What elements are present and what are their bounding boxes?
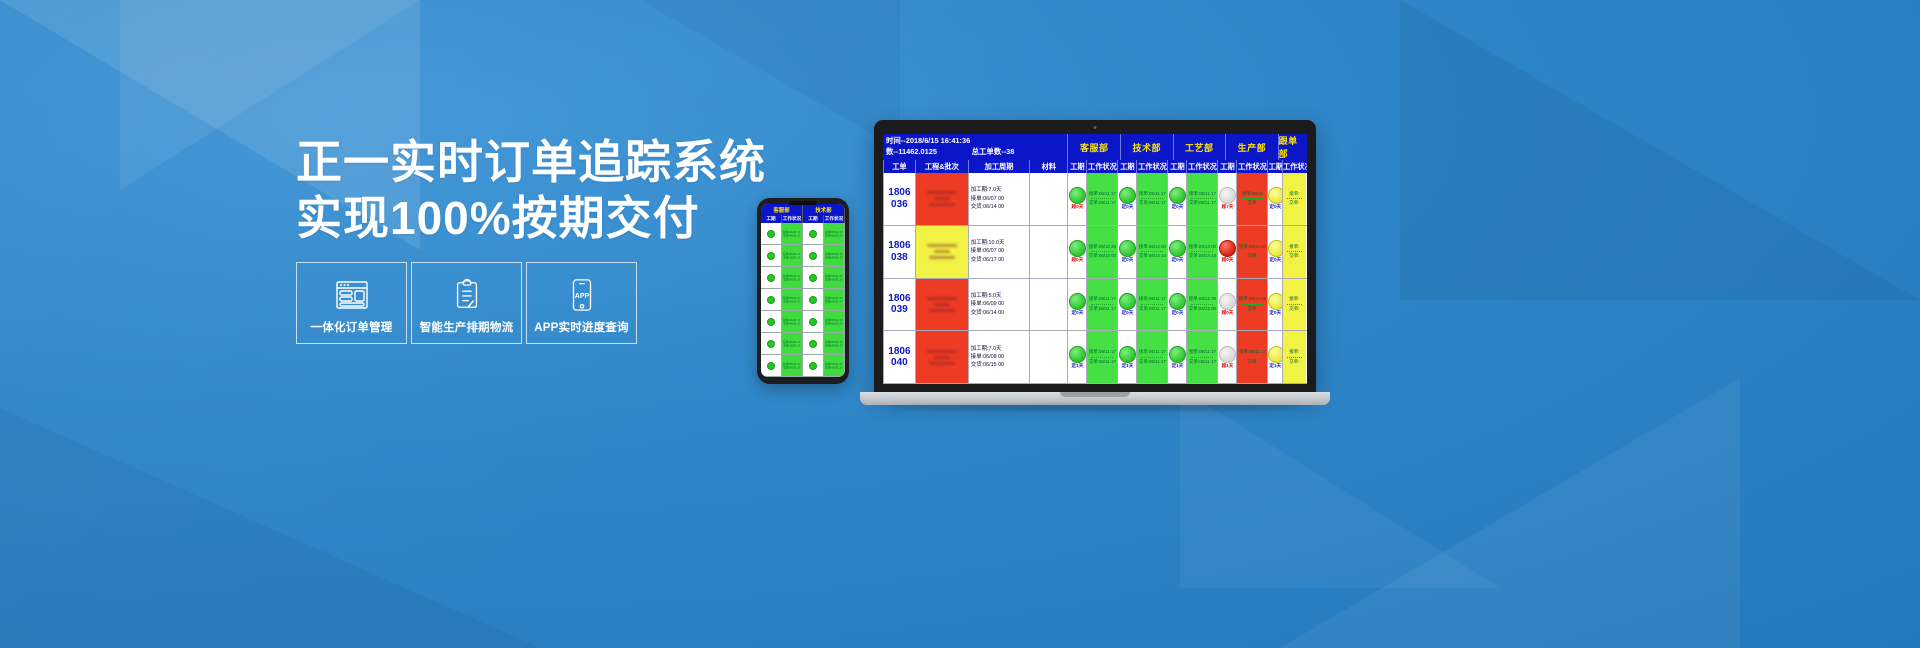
phone-status-text-cell[interactable]: 接单:06/11 17交单:06/11 17 bbox=[824, 333, 844, 355]
status-badge: 定0天 bbox=[1068, 310, 1086, 316]
duration-status-cell[interactable]: 超0天 bbox=[1217, 226, 1236, 278]
phone-status-text-cell[interactable]: 接单:06/11 17交单:06/11 17 bbox=[824, 267, 844, 289]
order-number-cell[interactable]: 1806040 bbox=[883, 331, 915, 383]
status-indicator-icon bbox=[1069, 293, 1086, 310]
work-status-text: 接单:06/12 09交单: bbox=[1237, 296, 1267, 312]
work-status-cell[interactable]: 接单:06/11 17交单:06/11 17 bbox=[1136, 331, 1167, 383]
material-cell[interactable] bbox=[1029, 331, 1067, 383]
status-dot-icon bbox=[767, 318, 775, 326]
column-header[interactable]: 加工周期 bbox=[968, 160, 1029, 173]
department-header[interactable]: 生产部 bbox=[1225, 134, 1278, 160]
status-badge: 定1天 bbox=[1118, 363, 1136, 369]
column-header[interactable]: 工作状况 bbox=[1236, 160, 1267, 173]
project-batch-cell[interactable] bbox=[915, 279, 968, 331]
status-total: 总工单数--38 bbox=[972, 147, 1015, 158]
work-status-cell[interactable]: 接单:06/11 17交单:06/11 17 bbox=[1136, 279, 1167, 331]
column-header[interactable]: 工单 bbox=[883, 160, 915, 173]
dashboard-table-body: 1806036加工期:7.0天接单:06/07 00交货:06/14 00超0天… bbox=[883, 173, 1307, 384]
phone-status-text-cell[interactable]: 接单:06/11 17交单:06/11 17 bbox=[824, 355, 844, 377]
phone-status-dot-cell[interactable] bbox=[761, 355, 781, 377]
phone-cell-text: 接单:06/11 17交单:06/11 17 bbox=[825, 362, 842, 369]
department-header[interactable]: 工艺部 bbox=[1173, 134, 1226, 160]
status-badge: 超7天 bbox=[1218, 204, 1236, 210]
redacted-content bbox=[916, 279, 968, 331]
duration-status-cell[interactable]: 定0天 bbox=[1267, 279, 1282, 331]
cycle-line: 加工期:7.0天 bbox=[969, 345, 1029, 353]
duration-status-cell[interactable]: 定0天 bbox=[1117, 226, 1136, 278]
dashboard-status-bar: 时间--2018/6/15 16:41:36 数--11462.0125 总工单… bbox=[883, 134, 1307, 160]
laptop-shadow bbox=[890, 405, 1300, 410]
order-number-cell[interactable]: 1806039 bbox=[883, 279, 915, 331]
phone-column bbox=[761, 223, 782, 377]
phone-status-text-cell[interactable]: 接单:06/11 17交单:06/11 17 bbox=[782, 311, 802, 333]
status-dot-icon bbox=[767, 274, 775, 282]
work-status-text: 接单:06/14 00交单: bbox=[1237, 244, 1267, 260]
work-status-text: 接单:06/13交单: bbox=[1237, 191, 1267, 207]
status-time: 时间--2018/6/15 16:41:36 bbox=[886, 136, 1064, 147]
cycle-line: 交货:06/14 00 bbox=[969, 309, 1029, 317]
cycle-line: 交货:06/15 00 bbox=[969, 361, 1029, 369]
feature-list: 一体化订单管理 智能生产排期物流 bbox=[296, 262, 637, 344]
status-badge: 定0天 bbox=[1118, 257, 1136, 263]
phone-mockup: 客服部 技术部 工期 工作状况 工期 工作状况 接单:06/11 17交单:06… bbox=[757, 198, 849, 384]
phone-cell-text: 接单:06/11 17交单:06/11 17 bbox=[783, 252, 800, 259]
status-badge: 定1天 bbox=[1168, 363, 1186, 369]
duration-status-cell[interactable]: 定0天 bbox=[1117, 279, 1136, 331]
processing-cycle-cell[interactable]: 加工期:10.0天接单:06/07 00交货:06/17 00 bbox=[968, 226, 1029, 278]
phone-status-dot-cell[interactable] bbox=[761, 223, 781, 245]
column-header[interactable]: 工期 bbox=[1267, 160, 1282, 173]
feature-item-production-schedule[interactable]: 智能生产排期物流 bbox=[411, 262, 522, 344]
cycle-line: 加工期:5.0天 bbox=[969, 292, 1029, 300]
phone-cell-text: 接单:06/11 17交单:06/11 17 bbox=[825, 318, 842, 325]
table-row[interactable]: 1806036加工期:7.0天接单:06/07 00交货:06/14 00超0天… bbox=[883, 173, 1307, 226]
duration-status-cell[interactable]: 超7天 bbox=[1217, 173, 1236, 225]
phone-status-text-cell[interactable]: 接单:06/11 17交单:06/11 17 bbox=[824, 311, 844, 333]
status-indicator-icon bbox=[1268, 293, 1282, 310]
phone-dept-header: 客服部 bbox=[761, 204, 803, 215]
work-status-text: 接单:06/11 17交单:06/11 17 bbox=[1087, 191, 1117, 207]
status-dot-icon bbox=[767, 340, 775, 348]
feature-label: APP实时进度查询 bbox=[534, 319, 628, 335]
duration-status-cell[interactable]: 定0天 bbox=[1167, 279, 1186, 331]
status-indicator-icon bbox=[1069, 240, 1086, 257]
phone-status-dot-cell[interactable] bbox=[803, 267, 823, 289]
column-header[interactable]: 工作状况 bbox=[1136, 160, 1167, 173]
duration-status-cell[interactable]: 定0天 bbox=[1267, 173, 1282, 225]
phone-status-text-cell[interactable]: 接单:06/11 17交单:06/11 17 bbox=[824, 223, 844, 245]
table-row[interactable]: 1806040加工期:7.0天接单:06/08 00交货:06/15 00定1天… bbox=[883, 331, 1307, 384]
status-badge: 定0天 bbox=[1268, 310, 1282, 316]
column-header[interactable]: 工作状况 bbox=[1086, 160, 1117, 173]
processing-cycle-cell[interactable]: 加工期:5.0天接单:06/09 00交货:06/14 00 bbox=[968, 279, 1029, 331]
phone-status-dot-cell[interactable] bbox=[803, 333, 823, 355]
material-cell[interactable] bbox=[1029, 226, 1067, 278]
phone-status-text-cell[interactable]: 接单:06/11 17交单:06/11 17 bbox=[782, 267, 802, 289]
project-batch-cell[interactable] bbox=[915, 173, 968, 225]
processing-cycle-cell[interactable]: 加工期:7.0天接单:06/08 00交货:06/15 00 bbox=[968, 331, 1029, 383]
duration-status-cell[interactable]: 定0天 bbox=[1067, 279, 1086, 331]
status-dot-icon bbox=[809, 252, 817, 260]
phone-cell-text: 接单:06/11 17交单:06/11 17 bbox=[825, 274, 842, 281]
phone-status-dot-cell[interactable] bbox=[761, 245, 781, 267]
phone-status-dot-cell[interactable] bbox=[761, 333, 781, 355]
processing-cycle-cell[interactable]: 加工期:7.0天接单:06/07 00交货:06/14 00 bbox=[968, 173, 1029, 225]
work-status-text: 接单:06/12 09交单:06/12 09 bbox=[1187, 296, 1217, 312]
status-indicator-icon bbox=[1219, 240, 1236, 257]
status-badge: 定0天 bbox=[1168, 310, 1186, 316]
phone-speaker bbox=[789, 201, 817, 205]
work-status-cell[interactable]: 接单:06/11 17交单: bbox=[1236, 331, 1267, 383]
phone-sub-header: 工期 bbox=[761, 215, 782, 223]
cycle-line: 接单:06/08 00 bbox=[969, 353, 1029, 361]
phone-cell-text: 接单:06/11 17交单:06/11 17 bbox=[783, 362, 800, 369]
column-header[interactable]: 工程&批次 bbox=[915, 160, 968, 173]
work-status-text: 接单:06/11 17交单:06/11 17 bbox=[1137, 191, 1167, 207]
status-indicator-icon bbox=[1268, 240, 1282, 257]
work-status-text: 接单:06/11 17交单: bbox=[1237, 349, 1267, 365]
status-badge: 超1天 bbox=[1218, 363, 1236, 369]
duration-status-cell[interactable]: 超0天 bbox=[1067, 173, 1086, 225]
duration-status-cell[interactable]: 定1天 bbox=[1117, 331, 1136, 383]
phone-dept-headers: 客服部 技术部 bbox=[761, 204, 845, 215]
duration-status-cell[interactable]: 超0天 bbox=[1067, 226, 1086, 278]
feature-item-app-tracking[interactable]: APP APP实时进度查询 bbox=[526, 262, 637, 344]
status-badge: 定0天 bbox=[1168, 257, 1186, 263]
dashboard-department-headers: 客服部技术部工艺部生产部跟单部 bbox=[1067, 134, 1307, 160]
phone-screen: 客服部 技术部 工期 工作状况 工期 工作状况 接单:06/11 17交单:06… bbox=[761, 204, 845, 377]
phone-status-text-cell[interactable]: 接单:06/11 17交单:06/11 17 bbox=[782, 333, 802, 355]
duration-status-cell[interactable]: 定0天 bbox=[1117, 173, 1136, 225]
status-badge: 定0天 bbox=[1168, 204, 1186, 210]
work-status-cell[interactable]: 接单:06/11 17交单:06/11 17 bbox=[1186, 331, 1217, 383]
svg-text:APP: APP bbox=[574, 291, 589, 299]
work-status-text: 接单:交单: bbox=[1283, 191, 1306, 207]
status-badge: 定0天 bbox=[1118, 310, 1136, 316]
department-header[interactable]: 客服部 bbox=[1067, 134, 1120, 160]
duration-status-cell[interactable]: 定0天 bbox=[1267, 226, 1282, 278]
work-status-text: 接单:交单: bbox=[1283, 349, 1306, 365]
work-status-cell[interactable]: 接单:06/11 17交单:06/11 17 bbox=[1086, 331, 1117, 383]
phone-column: 接单:06/11 17交单:06/11 17接单:06/11 17交单:06/1… bbox=[824, 223, 845, 377]
phone-sub-header: 工作状况 bbox=[782, 215, 803, 223]
clipboard-schedule-icon bbox=[452, 276, 482, 314]
status-dot-icon bbox=[767, 362, 775, 370]
status-dot-icon bbox=[809, 340, 817, 348]
status-indicator-icon bbox=[1119, 293, 1136, 310]
work-status-text: 接单:06/11 17交单:06/11 17 bbox=[1187, 191, 1217, 207]
duration-status-cell[interactable]: 定1天 bbox=[1067, 331, 1086, 383]
phone-cell-text: 接单:06/11 17交单:06/11 17 bbox=[825, 296, 842, 303]
project-batch-cell[interactable] bbox=[915, 331, 968, 383]
status-indicator-icon bbox=[1268, 187, 1282, 204]
work-status-text: 接单:06/11 17交单:06/11 17 bbox=[1137, 296, 1167, 312]
redacted-content bbox=[916, 331, 968, 383]
work-status-text: 接单:交单: bbox=[1283, 244, 1306, 260]
material-cell[interactable] bbox=[1029, 173, 1067, 225]
phone-sub-header: 工期 bbox=[803, 215, 824, 223]
hero-banner: 正一实时订单追踪系统 实现100%按期交付 一体化订单管理 bbox=[0, 0, 1920, 648]
work-status-text: 接单:06/12 20交单:06/14 00 bbox=[1087, 244, 1117, 260]
column-header[interactable]: 工期 bbox=[1117, 160, 1136, 173]
department-header[interactable]: 技术部 bbox=[1120, 134, 1173, 160]
mobile-app-icon: APP bbox=[569, 276, 595, 314]
redacted-content bbox=[916, 226, 968, 278]
status-indicator-icon bbox=[1219, 346, 1236, 363]
work-status-cell[interactable]: 接单:06/11 17交单:06/11 17 bbox=[1086, 279, 1117, 331]
work-status-cell[interactable]: 接单:06/14 00交单:06/14 14 bbox=[1186, 226, 1217, 278]
work-status-text: 接单:06/11 17交单:06/11 17 bbox=[1187, 349, 1217, 365]
phone-status-dot-cell[interactable] bbox=[803, 289, 823, 311]
phone-cell-text: 接单:06/11 17交单:06/11 17 bbox=[825, 340, 842, 347]
bg-facet bbox=[0, 408, 540, 648]
work-status-text: 接单:06/14 00交单:06/14 14 bbox=[1187, 244, 1217, 260]
laptop-base bbox=[860, 392, 1330, 405]
phone-cell-text: 接单:06/11 17交单:06/11 17 bbox=[783, 340, 800, 347]
feature-label: 智能生产排期物流 bbox=[420, 319, 514, 335]
duration-status-cell[interactable]: 定0天 bbox=[1167, 226, 1186, 278]
phone-status-text-cell[interactable]: 接单:06/11 17交单:06/11 17 bbox=[782, 355, 802, 377]
duration-status-cell[interactable]: 定1天 bbox=[1167, 331, 1186, 383]
status-indicator-icon bbox=[1268, 346, 1282, 363]
status-dot-icon bbox=[809, 362, 817, 370]
headline-line-1: 正一实时订单追踪系统 bbox=[296, 136, 766, 188]
phone-column bbox=[803, 223, 824, 377]
laptop-mockup: 时间--2018/6/15 16:41:36 数--11462.0125 总工单… bbox=[860, 120, 1330, 420]
status-dot-icon bbox=[809, 274, 817, 282]
work-status-cell[interactable]: 接单:06/12 09交单:06/12 09 bbox=[1186, 279, 1217, 331]
phone-status-dot-cell[interactable] bbox=[803, 311, 823, 333]
phone-status-text-cell[interactable]: 接单:06/11 17交单:06/11 17 bbox=[824, 289, 844, 311]
column-header[interactable]: 工期 bbox=[1067, 160, 1086, 173]
phone-status-dot-cell[interactable] bbox=[803, 223, 823, 245]
phone-status-dot-cell[interactable] bbox=[803, 355, 823, 377]
work-status-cell[interactable]: 接单:06/14 00交单:06/14 14 bbox=[1136, 226, 1167, 278]
cycle-line: 交货:06/14 00 bbox=[969, 203, 1029, 211]
table-row[interactable]: 1806039加工期:5.0天接单:06/09 00交货:06/14 00定0天… bbox=[883, 279, 1307, 332]
order-number: 1806036 bbox=[884, 187, 915, 210]
bg-facet bbox=[1400, 0, 1920, 300]
column-header[interactable]: 材料 bbox=[1029, 160, 1067, 173]
order-number: 1806040 bbox=[884, 346, 915, 369]
phone-status-text-cell[interactable]: 接单:06/11 17交单:06/11 17 bbox=[824, 245, 844, 267]
phone-status-dot-cell[interactable] bbox=[761, 311, 781, 333]
status-dot-icon bbox=[767, 296, 775, 304]
order-number-cell[interactable]: 1806036 bbox=[883, 173, 915, 225]
feature-item-order-management[interactable]: 一体化订单管理 bbox=[296, 262, 407, 344]
status-indicator-icon bbox=[1169, 346, 1186, 363]
work-status-cell[interactable]: 接单:06/12 20交单:06/14 00 bbox=[1086, 226, 1117, 278]
status-dot-icon bbox=[767, 230, 775, 238]
work-status-text: 接单:06/11 17交单:06/11 17 bbox=[1137, 349, 1167, 365]
column-header[interactable]: 工作状况 bbox=[1186, 160, 1217, 173]
duration-status-cell[interactable]: 超1天 bbox=[1217, 331, 1236, 383]
order-number-cell[interactable]: 1806038 bbox=[883, 226, 915, 278]
cycle-line: 加工期:10.0天 bbox=[969, 239, 1029, 247]
phone-cell-text: 接单:06/11 17交单:06/11 17 bbox=[783, 318, 800, 325]
cycle-line: 加工期:7.0天 bbox=[969, 186, 1029, 194]
order-number: 1806038 bbox=[884, 240, 915, 263]
cycle-line: 交货:06/17 00 bbox=[969, 256, 1029, 264]
status-indicator-icon bbox=[1119, 240, 1136, 257]
column-header[interactable]: 工作状况 bbox=[1282, 160, 1306, 173]
status-indicator-icon bbox=[1219, 187, 1236, 204]
status-indicator-icon bbox=[1069, 187, 1086, 204]
status-dot-icon bbox=[809, 318, 817, 326]
work-status-cell[interactable]: 接单:交单: bbox=[1282, 173, 1306, 225]
status-dot-icon bbox=[809, 296, 817, 304]
webcam-icon bbox=[1094, 126, 1097, 129]
cycle-line: 接单:06/09 00 bbox=[969, 300, 1029, 308]
work-status-text: 接单:交单: bbox=[1283, 296, 1306, 312]
status-indicator-icon bbox=[1069, 346, 1086, 363]
work-status-cell[interactable]: 接单:交单: bbox=[1282, 226, 1306, 278]
phone-sub-headers: 工期 工作状况 工期 工作状况 bbox=[761, 215, 845, 223]
phone-cell-text: 接单:06/11 17交单:06/11 17 bbox=[783, 230, 800, 237]
phone-sub-header: 工作状况 bbox=[824, 215, 845, 223]
status-indicator-icon bbox=[1219, 293, 1236, 310]
status-badge: 超0天 bbox=[1068, 204, 1086, 210]
phone-status-text-cell[interactable]: 接单:06/11 17交单:06/11 17 bbox=[782, 289, 802, 311]
table-row[interactable]: 1806038加工期:10.0天接单:06/07 00交货:06/17 00超0… bbox=[883, 226, 1307, 279]
phone-status-text-cell[interactable]: 接单:06/11 17交单:06/11 17 bbox=[782, 223, 802, 245]
work-status-cell[interactable]: 接单:06/11 17交单:06/11 17 bbox=[1136, 173, 1167, 225]
status-badge: 定1天 bbox=[1068, 363, 1086, 369]
work-status-cell[interactable]: 接单:交单: bbox=[1282, 279, 1306, 331]
column-header[interactable]: 工期 bbox=[1167, 160, 1186, 173]
phone-status-dot-cell[interactable] bbox=[803, 245, 823, 267]
department-header[interactable]: 跟单部 bbox=[1278, 134, 1307, 160]
status-dot-icon bbox=[767, 252, 775, 260]
duration-status-cell[interactable]: 超0天 bbox=[1217, 279, 1236, 331]
status-indicator-icon bbox=[1169, 240, 1186, 257]
status-indicator-icon bbox=[1119, 187, 1136, 204]
column-header[interactable]: 工期 bbox=[1217, 160, 1236, 173]
cycle-line: 接单:06/07 00 bbox=[969, 195, 1029, 203]
phone-column: 接单:06/11 17交单:06/11 17接单:06/11 17交单:06/1… bbox=[782, 223, 803, 377]
work-status-cell[interactable]: 接单:06/12 09交单: bbox=[1236, 279, 1267, 331]
order-number: 1806039 bbox=[884, 293, 915, 316]
status-count: 数--11462.0125 bbox=[886, 147, 972, 158]
status-badge: 定1天 bbox=[1268, 363, 1282, 369]
cycle-line: 接单:06/07 00 bbox=[969, 247, 1029, 255]
dashboard-column-headers: 工单工程&批次加工周期材料工期工作状况工期工作状况工期工作状况工期工作状况工期工… bbox=[883, 160, 1307, 173]
phone-cell-text: 接单:06/11 17交单:06/11 17 bbox=[783, 296, 800, 303]
status-dot-icon bbox=[809, 230, 817, 238]
phone-table-body: 接单:06/11 17交单:06/11 17接单:06/11 17交单:06/1… bbox=[761, 223, 845, 377]
status-indicator-icon bbox=[1169, 293, 1186, 310]
work-status-cell[interactable]: 接单:交单: bbox=[1282, 331, 1306, 383]
phone-dept-header: 技术部 bbox=[803, 204, 845, 215]
status-badge: 定0天 bbox=[1268, 204, 1282, 210]
work-status-text: 接单:06/11 17交单:06/11 17 bbox=[1087, 349, 1117, 365]
laptop-lid: 时间--2018/6/15 16:41:36 数--11462.0125 总工单… bbox=[874, 120, 1316, 394]
phone-cell-text: 接单:06/11 17交单:06/11 17 bbox=[825, 252, 842, 259]
status-badge: 定0天 bbox=[1118, 204, 1136, 210]
work-status-text: 接单:06/14 00交单:06/14 14 bbox=[1137, 244, 1167, 260]
phone-status-dot-cell[interactable] bbox=[761, 289, 781, 311]
phone-cell-text: 接单:06/11 17交单:06/11 17 bbox=[825, 230, 842, 237]
status-badge: 超0天 bbox=[1218, 310, 1236, 316]
status-indicator-icon bbox=[1119, 346, 1136, 363]
laptop-screen: 时间--2018/6/15 16:41:36 数--11462.0125 总工单… bbox=[883, 134, 1307, 384]
material-cell[interactable] bbox=[1029, 279, 1067, 331]
feature-label: 一体化订单管理 bbox=[311, 319, 393, 335]
status-badge: 超0天 bbox=[1218, 257, 1236, 263]
status-badge: 定0天 bbox=[1268, 257, 1282, 263]
duration-status-cell[interactable]: 定0天 bbox=[1167, 173, 1186, 225]
work-status-cell[interactable]: 接单:06/11 17交单:06/11 17 bbox=[1186, 173, 1217, 225]
phone-cell-text: 接单:06/11 17交单:06/11 17 bbox=[783, 274, 800, 281]
dashboard-window-icon bbox=[335, 276, 369, 314]
work-status-cell[interactable]: 接单:06/11 17交单:06/11 17 bbox=[1086, 173, 1117, 225]
work-status-cell[interactable]: 接单:06/13交单: bbox=[1236, 173, 1267, 225]
redacted-content bbox=[916, 173, 968, 225]
status-badge: 超0天 bbox=[1068, 257, 1086, 263]
phone-status-text-cell[interactable]: 接单:06/11 17交单:06/11 17 bbox=[782, 245, 802, 267]
work-status-text: 接单:06/11 17交单:06/11 17 bbox=[1087, 296, 1117, 312]
status-indicator-icon bbox=[1169, 187, 1186, 204]
project-batch-cell[interactable] bbox=[915, 226, 968, 278]
phone-status-dot-cell[interactable] bbox=[761, 267, 781, 289]
status-bar-left: 时间--2018/6/15 16:41:36 数--11462.0125 总工单… bbox=[883, 134, 1067, 160]
duration-status-cell[interactable]: 定1天 bbox=[1267, 331, 1282, 383]
work-status-cell[interactable]: 接单:06/14 00交单: bbox=[1236, 226, 1267, 278]
